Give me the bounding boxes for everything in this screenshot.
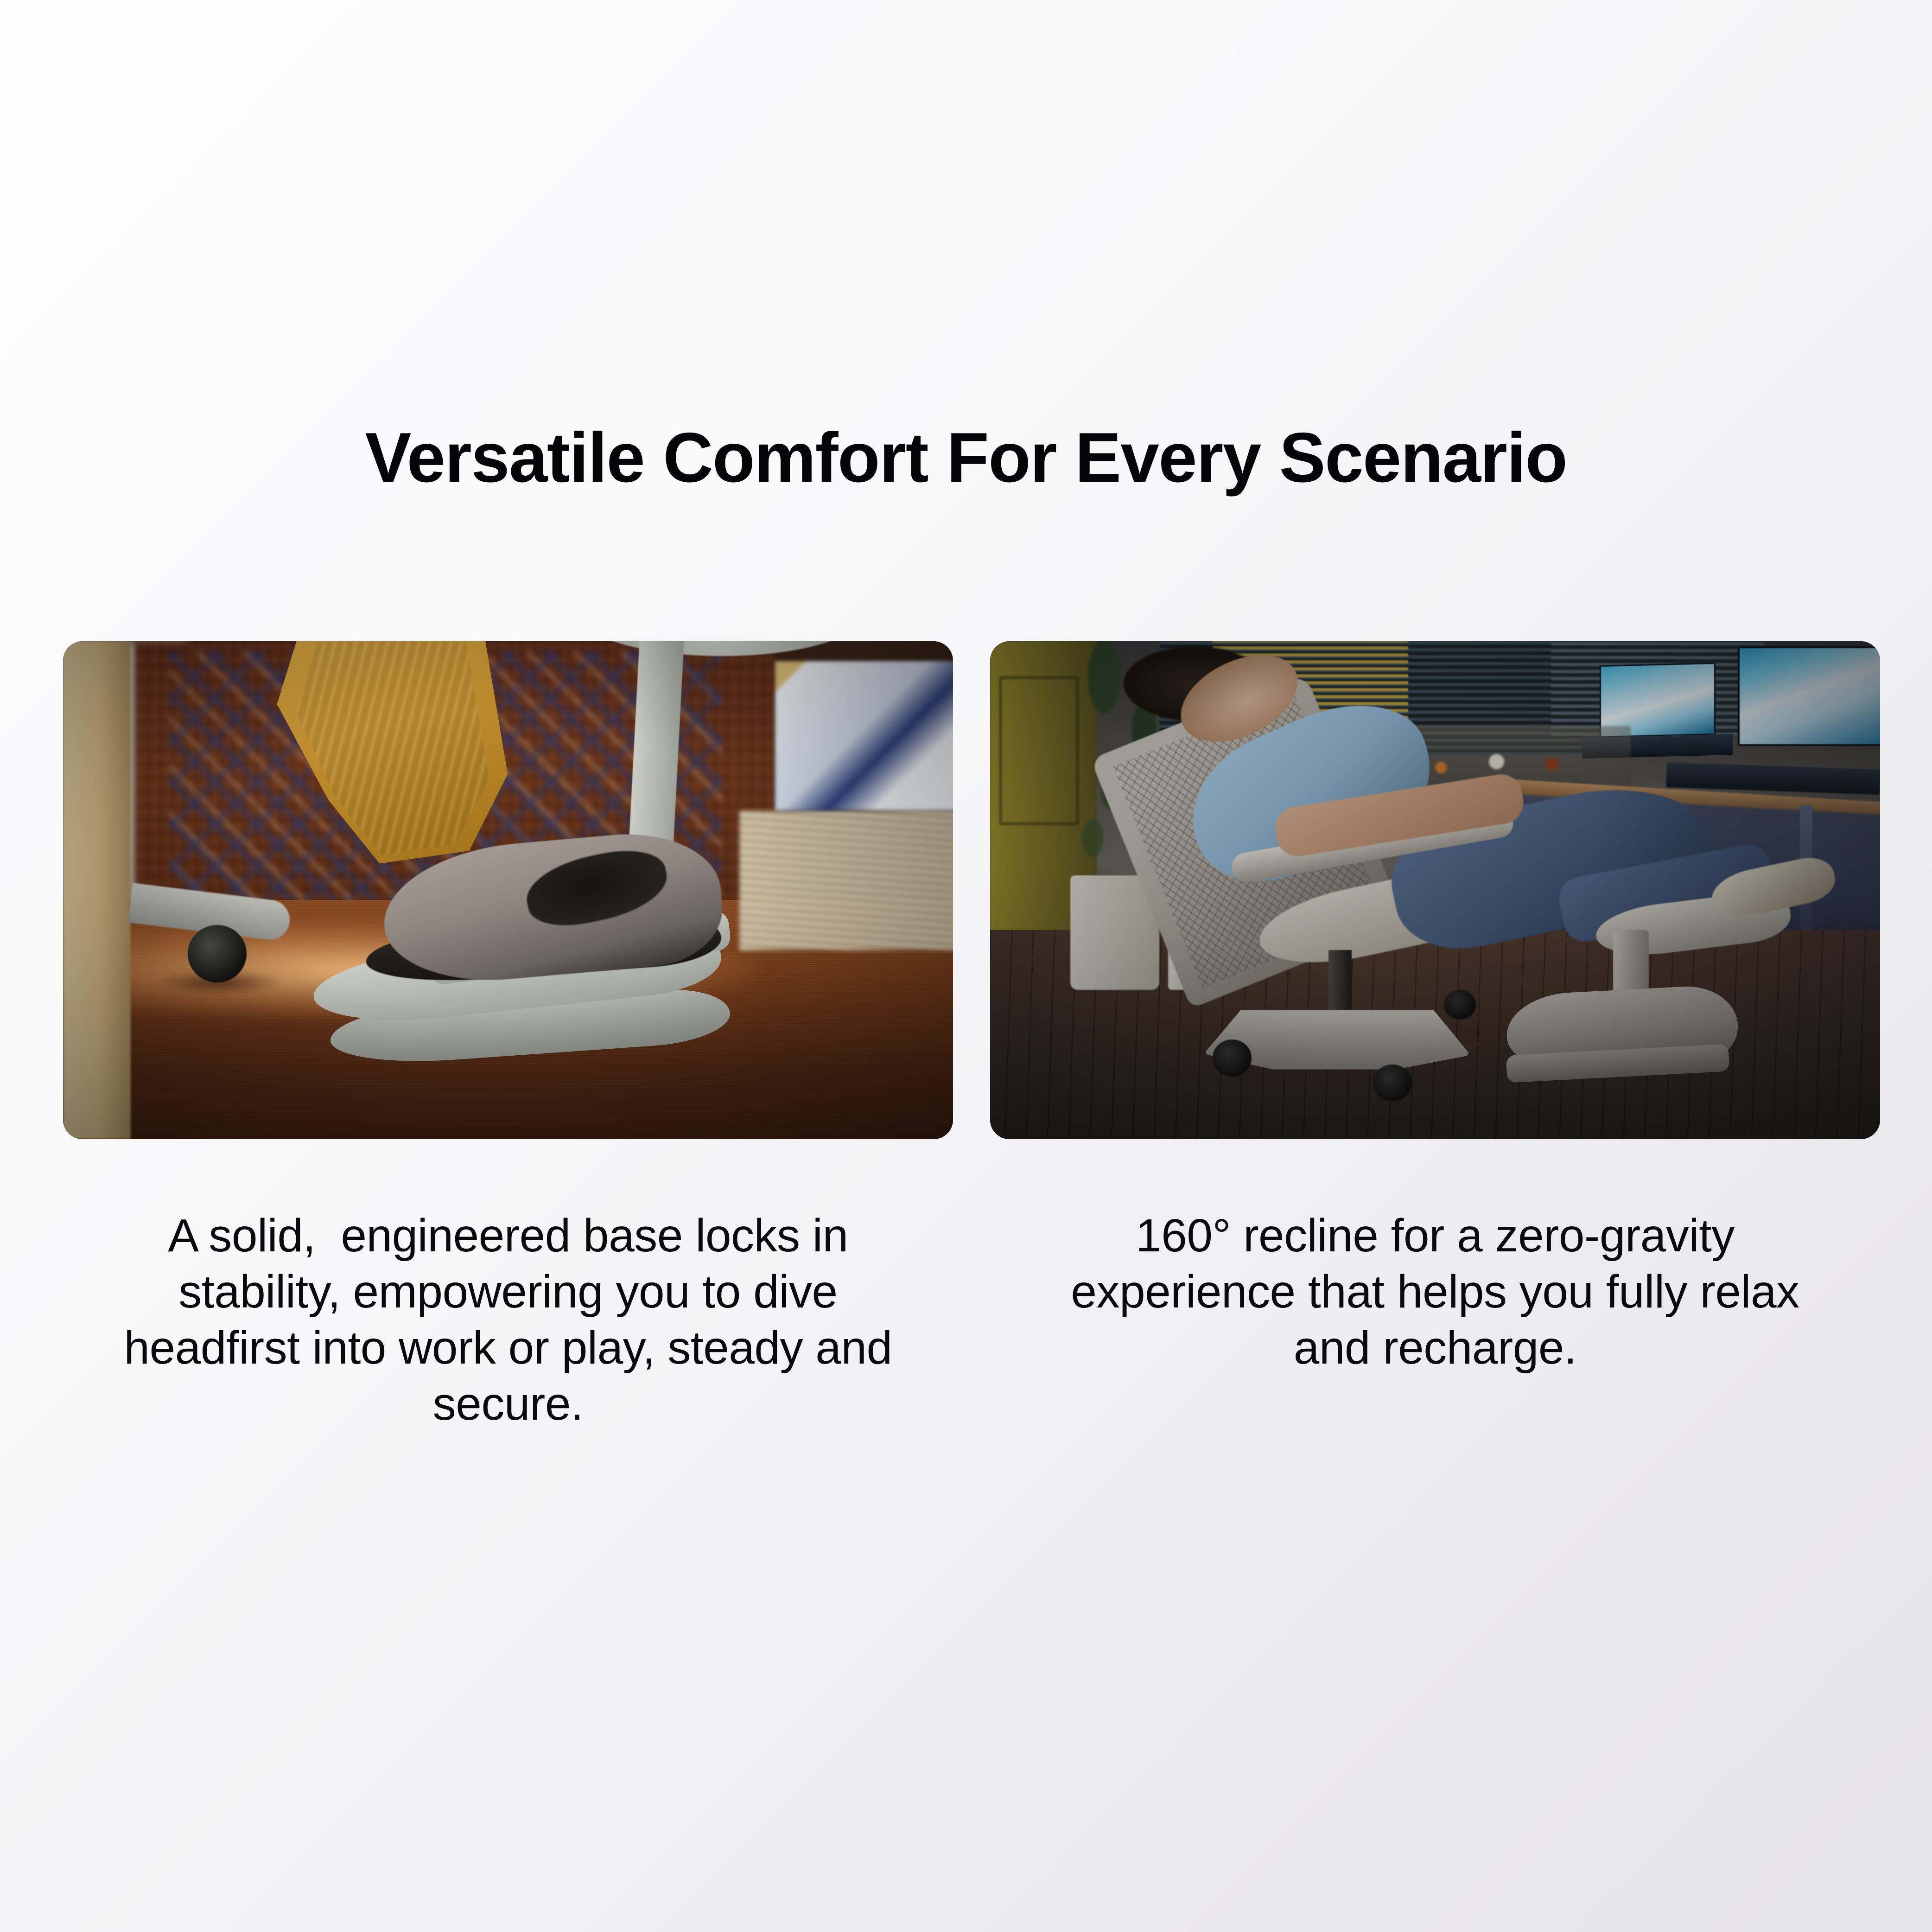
photo-vignette xyxy=(990,641,1880,1139)
caption-stability: A solid, engineered base locks in stabil… xyxy=(63,1208,953,1432)
page-title: Versatile Comfort For Every Scenario xyxy=(14,420,1917,496)
feature-image-row xyxy=(63,641,1880,1139)
marketing-feature-page: Versatile Comfort For Every Scenario xyxy=(0,0,1932,1932)
reclining-chair-photo xyxy=(990,641,1880,1139)
caption-recline: 160° recline for a zero-gravity experien… xyxy=(990,1208,1880,1432)
footrest-under-desk-photo xyxy=(63,641,953,1139)
feature-caption-row: A solid, engineered base locks in stabil… xyxy=(63,1208,1880,1432)
photo-vignette xyxy=(63,641,953,1139)
feature-card-stability[interactable] xyxy=(63,641,953,1139)
feature-card-recline[interactable] xyxy=(990,641,1880,1139)
